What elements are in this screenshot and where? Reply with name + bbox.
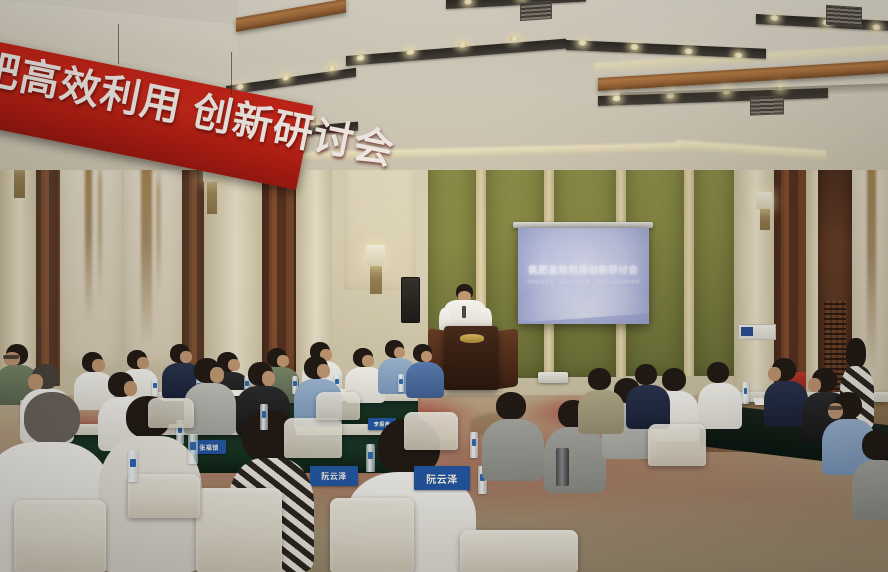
water-bottle[interactable] [152,378,158,396]
presenter-microphone [462,306,466,318]
chair[interactable] [404,412,458,450]
ceiling-air-vent-2 [826,5,862,28]
water-bottle[interactable] [260,404,268,430]
slide-subtitle-text: 中国农业大学 · 资源与环境学院 · 国家农业科技创新联盟 [518,279,649,285]
projector [538,372,568,383]
slide-title-text: 氮肥高效利用创新研讨会 [518,263,649,276]
ceiling-light-channel-5 [226,68,356,95]
wall-sconce-front [366,245,385,266]
slide-footer-text: 2016 · 海口 [518,304,649,309]
name-placard: 阮云泽 [310,466,358,486]
chair[interactable] [330,498,414,572]
ceiling-air-vent-3 [750,95,784,115]
water-bottle[interactable] [128,450,138,482]
chair[interactable] [284,418,342,458]
chair[interactable] [648,424,706,466]
chair[interactable] [128,474,200,518]
eyeglasses [3,355,19,359]
water-bottle[interactable] [366,444,375,472]
ceiling-air-vent-1 [520,1,552,21]
cove-light-3 [676,140,826,159]
thermos-flask[interactable] [556,448,569,486]
water-bottle[interactable] [398,374,404,392]
wall-sign [738,324,776,340]
name-placard-foreground: 阮云泽 [414,466,470,490]
conference-room-photo: 氮肥高效利用创新研讨会 中国农业大学 · 资源与环境学院 · 国家农业科技创新联… [0,0,888,572]
podium [444,326,498,390]
banner-string-2 [231,52,232,94]
chair[interactable] [316,392,360,420]
placard-name: 张福锁 [199,443,219,452]
wall-speaker [401,277,420,323]
water-bottle[interactable] [188,434,198,464]
water-bottle[interactable] [470,432,478,458]
water-bottle[interactable] [742,382,749,404]
placard-name: 阮云泽 [426,471,458,486]
eyeglasses [827,406,843,410]
chair[interactable] [14,500,106,572]
podium-emblem [460,334,484,343]
wall-sconce-right [756,192,772,209]
banner-string-1 [118,24,119,64]
projection-screen: 氮肥高效利用创新研讨会 中国农业大学 · 资源与环境学院 · 国家农业科技创新联… [518,228,649,324]
placard-name: 阮云泽 [321,471,347,482]
chair[interactable] [460,530,578,572]
chair[interactable] [196,488,282,572]
chair[interactable] [148,398,194,428]
